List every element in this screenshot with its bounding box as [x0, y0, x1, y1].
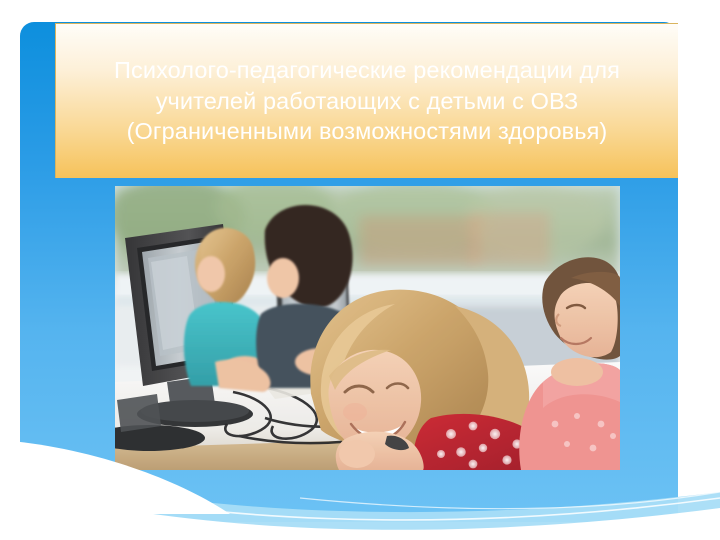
title-card: Психолого-педагогические рекомендации дл…: [55, 23, 678, 178]
presentation-slide: Психолого-педагогические рекомендации дл…: [0, 0, 720, 540]
classroom-photo-image: [115, 186, 620, 470]
classroom-photo: [115, 186, 620, 470]
slide-title: Психолого-педагогические рекомендации дл…: [56, 55, 678, 147]
